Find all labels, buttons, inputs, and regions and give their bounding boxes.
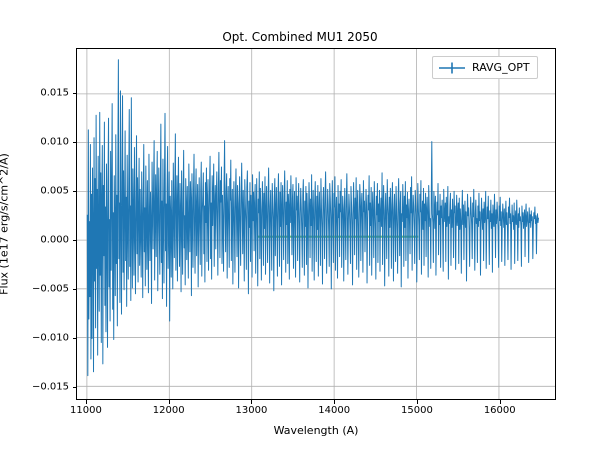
legend[interactable]: RAVG_OPT [432, 56, 538, 79]
x-tick-mark [334, 400, 335, 404]
y-tick-mark [73, 142, 77, 143]
series-ravg-opt [77, 49, 555, 399]
x-tick-mark [500, 400, 501, 404]
y-tick-mark [73, 191, 77, 192]
x-axis-label: Wavelength (A) [76, 424, 556, 437]
x-tick-label: 16000 [484, 405, 516, 416]
y-tick-mark [73, 387, 77, 388]
plot-area[interactable] [76, 48, 556, 400]
y-tick-label: 0.000 [40, 235, 69, 246]
x-tick-mark [251, 400, 252, 404]
y-tick-label: −0.005 [32, 284, 69, 295]
y-tick-label: −0.010 [32, 333, 69, 344]
x-tick-mark [169, 400, 170, 404]
legend-line-marker-icon [439, 61, 465, 75]
y-tick-label: 0.005 [40, 186, 69, 197]
y-tick-label: 0.010 [40, 137, 69, 148]
x-tick-label: 11000 [70, 405, 102, 416]
y-tick-mark [73, 338, 77, 339]
y-axis-label: Flux (1e17 erg/s/cm^2/A) [0, 153, 11, 295]
x-tick-mark [417, 400, 418, 404]
x-tick-label: 14000 [318, 405, 350, 416]
legend-label-ravg-opt: RAVG_OPT [472, 61, 530, 74]
figure-canvas: Opt. Combined MU1 2050 11000120001300014… [0, 0, 600, 450]
y-tick-label: 0.015 [40, 88, 69, 99]
y-tick-mark [73, 93, 77, 94]
y-tick-label: −0.015 [32, 382, 69, 393]
x-tick-label: 15000 [401, 405, 433, 416]
y-tick-mark [73, 240, 77, 241]
x-tick-label: 12000 [153, 405, 185, 416]
y-tick-mark [73, 289, 77, 290]
x-tick-mark [86, 400, 87, 404]
chart-title: Opt. Combined MU1 2050 [0, 30, 600, 44]
x-tick-label: 13000 [236, 405, 268, 416]
